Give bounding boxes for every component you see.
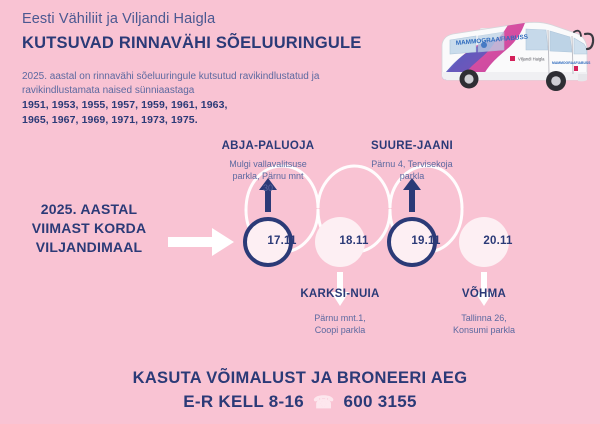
footer-hours: E-R KELL 8-16 <box>183 391 304 414</box>
stop-address-4: Tallinna 26, Konsumi parkla <box>424 312 544 336</box>
timeline-marker-3 <box>389 178 435 265</box>
callout-line-3: VILJANDIMAAL <box>14 238 164 257</box>
bus-logo-text: Viljandi Haigla <box>518 57 545 62</box>
timeline-stop-label-1: ABJA-PALUOJA Mulgi vallavalitsuse parkla… <box>208 140 328 194</box>
timeline-stop-label-3: SUURE-JAANI Pärnu 4, Tervisekoja parkla <box>352 140 472 182</box>
stop-address-3: Pärnu 4, Tervisekoja parkla <box>352 158 472 182</box>
callout-line-2: VIIMAST KORDA <box>14 219 164 238</box>
telephone-icon: ☎ <box>313 394 334 411</box>
stop-name-3: SUURE-JAANI <box>352 140 472 154</box>
timeline-date-1: 17.11 <box>254 235 310 247</box>
stop-address-1-line-3: 30 <box>208 182 328 194</box>
timeline-stop-label-2: KARKSI-NUIA Pärnu mnt.1, Coopi parkla <box>280 288 400 336</box>
stop-name-1: ABJA-PALUOJA <box>208 140 328 154</box>
stop-address-3-line-1: Pärnu 4, Tervisekoja <box>352 158 472 170</box>
birth-years-line-1: 1951, 1953, 1955, 1957, 1959, 1961, 1963… <box>22 98 442 113</box>
footer-call-to-action: KASUTA VÕIMALUST JA BRONEERI AEG <box>0 368 600 389</box>
infographic-poster: Eesti Vähiliit ja Viljandi Haigla KUTSUV… <box>0 0 600 424</box>
header-line-1: Eesti Vähiliit ja Viljandi Haigla <box>22 10 442 29</box>
timeline-date-2: 18.11 <box>326 235 382 247</box>
footer-block: KASUTA VÕIMALUST JA BRONEERI AEG E-R KEL… <box>0 368 600 414</box>
bus-door-text: MAMMOGRAAFIABUSS <box>552 61 591 65</box>
callout-text: 2025. AASTAL VIIMAST KORDA VILJANDIMAAL <box>14 200 164 257</box>
footer-phone-number[interactable]: 600 3155 <box>343 391 416 414</box>
timeline-date-3: 19.11 <box>398 235 454 247</box>
stop-address-4-line-1: Tallinna 26, <box>424 312 544 324</box>
stop-address-1: Mulgi vallavalitsuse parkla, Pärnu mnt 3… <box>208 158 328 194</box>
description-line-1: 2025. aastal on rinnavähi sõeluuringule … <box>22 70 442 84</box>
stop-address-2: Pärnu mnt.1, Coopi parkla <box>280 312 400 336</box>
footer-contact-row: E-R KELL 8-16 ☎ 600 3155 <box>0 391 600 414</box>
timeline-stop-label-4: VÕHMA Tallinna 26, Konsumi parkla <box>424 288 544 336</box>
stop-address-2-line-1: Pärnu mnt.1, <box>280 312 400 324</box>
stop-address-4-line-2: Konsumi parkla <box>424 324 544 336</box>
timeline-date-4: 20.11 <box>470 235 526 247</box>
mammography-bus-image: MAMMOGRAAFIABUSS Viljandi Haigla MAMMOGR… <box>428 12 596 98</box>
callout-line-1: 2025. AASTAL <box>14 200 164 219</box>
header-description: 2025. aastal on rinnavähi sõeluuringule … <box>22 70 442 128</box>
birth-years-line-2: 1965, 1967, 1969, 1971, 1973, 1975. <box>22 113 442 128</box>
header-block: Eesti Vähiliit ja Viljandi Haigla KUTSUV… <box>22 10 442 53</box>
stop-name-4: VÕHMA <box>424 288 544 302</box>
stop-address-1-line-2: parkla, Pärnu mnt <box>208 170 328 182</box>
stop-address-3-line-2: parkla <box>352 170 472 182</box>
timeline: 17.11 18.11 19.11 20.11 ABJA-PALUOJA Mul… <box>228 140 588 370</box>
stop-address-2-line-2: Coopi parkla <box>280 324 400 336</box>
stop-name-2: KARKSI-NUIA <box>280 288 400 302</box>
arrow-right-icon <box>168 225 236 259</box>
page-title: KUTSUVAD RINNAVÄHI SÕELUURINGULE <box>22 33 442 54</box>
description-line-2: ravikindlustamata naised sünniaastaga <box>22 84 442 98</box>
stop-address-1-line-1: Mulgi vallavalitsuse <box>208 158 328 170</box>
